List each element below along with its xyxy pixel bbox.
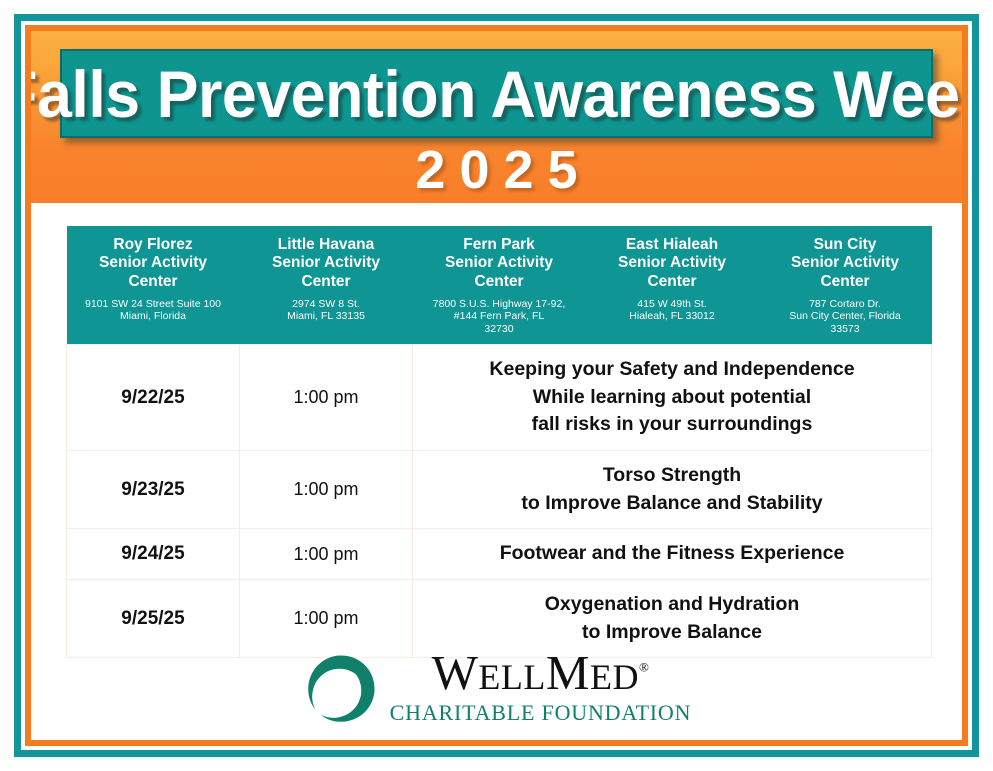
- session-topic: Keeping your Safety and IndependenceWhil…: [413, 344, 932, 450]
- header-band: Falls Prevention Awareness Week 2025: [31, 31, 962, 203]
- session-date: 9/24/25: [67, 529, 240, 580]
- year-label: 2025: [31, 143, 962, 197]
- logo-block: WELLMED® CHARITABLE FOUNDATION: [0, 648, 993, 733]
- venue-name: Roy FlorezSenior ActivityCenter: [71, 236, 236, 291]
- schedule-table-body: 9/22/25 1:00 pm Keeping your Safety and …: [67, 344, 932, 658]
- logo-w: W: [432, 645, 479, 700]
- table-row: 9/24/25 1:00 pm Footwear and the Fitness…: [67, 529, 932, 580]
- wellmed-swirl-icon: [302, 650, 380, 733]
- session-date: 9/22/25: [67, 344, 240, 450]
- venue-address: 787 Cortaro Dr.Sun City Center, Florida3…: [763, 298, 928, 335]
- venue-header-row: Roy FlorezSenior ActivityCenter 9101 SW …: [67, 226, 932, 344]
- logo-tagline: CHARITABLE FOUNDATION: [390, 702, 692, 724]
- table-row: 9/25/25 1:00 pm Oxygenation and Hydratio…: [67, 580, 932, 658]
- venue-header-cell: Sun CitySenior ActivityCenter 787 Cortar…: [759, 226, 932, 344]
- session-date: 9/23/25: [67, 451, 240, 529]
- venue-address: 7800 S.U.S. Highway 17-92,#144 Fern Park…: [417, 298, 582, 335]
- registered-mark-icon: ®: [639, 660, 649, 675]
- session-time: 1:00 pm: [240, 344, 413, 450]
- venue-header-cell: Little HavanaSenior ActivityCenter 2974 …: [240, 226, 413, 344]
- venue-name: East HialeahSenior ActivityCenter: [590, 236, 755, 291]
- session-topic: Footwear and the Fitness Experience: [413, 529, 932, 580]
- schedule-table-head: Roy FlorezSenior ActivityCenter 9101 SW …: [67, 226, 932, 344]
- table-row: 9/23/25 1:00 pm Torso Strengthto Improve…: [67, 451, 932, 529]
- logo-m: M: [546, 645, 590, 700]
- logo-ed: ED: [590, 657, 639, 697]
- session-time: 1:00 pm: [240, 451, 413, 529]
- session-topic: Torso Strengthto Improve Balance and Sta…: [413, 451, 932, 529]
- venue-name: Little HavanaSenior ActivityCenter: [244, 236, 409, 291]
- session-date: 9/25/25: [67, 580, 240, 658]
- logo-wordmark: WELLMED®: [432, 648, 650, 697]
- venue-header-cell: East HialeahSenior ActivityCenter 415 W …: [586, 226, 759, 344]
- page-title: Falls Prevention Awareness Week: [31, 61, 962, 127]
- venue-name: Fern ParkSenior ActivityCenter: [417, 236, 582, 291]
- session-topic: Oxygenation and Hydrationto Improve Bala…: [413, 580, 932, 658]
- schedule-table: Roy FlorezSenior ActivityCenter 9101 SW …: [66, 226, 932, 658]
- flyer-canvas: Falls Prevention Awareness Week 2025 Roy…: [0, 0, 993, 771]
- venue-address: 2974 SW 8 St.Miami, FL 33135: [244, 298, 409, 323]
- venue-header-cell: Fern ParkSenior ActivityCenter 7800 S.U.…: [413, 226, 586, 344]
- venue-address: 415 W 49th St.Hialeah, FL 33012: [590, 298, 755, 323]
- session-time: 1:00 pm: [240, 529, 413, 580]
- venue-address: 9101 SW 24 Street Suite 100Miami, Florid…: [71, 298, 236, 323]
- logo-ell: ELL: [478, 657, 545, 697]
- session-time: 1:00 pm: [240, 580, 413, 658]
- venue-header-cell: Roy FlorezSenior ActivityCenter 9101 SW …: [67, 226, 240, 344]
- venue-name: Sun CitySenior ActivityCenter: [763, 236, 928, 291]
- table-row: 9/22/25 1:00 pm Keeping your Safety and …: [67, 344, 932, 450]
- title-box: Falls Prevention Awareness Week: [60, 49, 933, 138]
